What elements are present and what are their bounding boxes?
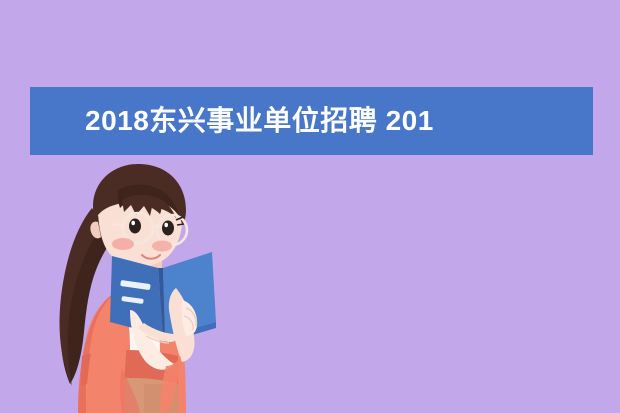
image-canvas: 2018东兴事业单位招聘 201 — [0, 0, 620, 413]
girl-reading-book-illustration — [26, 160, 226, 413]
page-title: 2018东兴事业单位招聘 201 — [30, 107, 434, 135]
title-banner: 2018东兴事业单位招聘 201 — [30, 87, 593, 155]
